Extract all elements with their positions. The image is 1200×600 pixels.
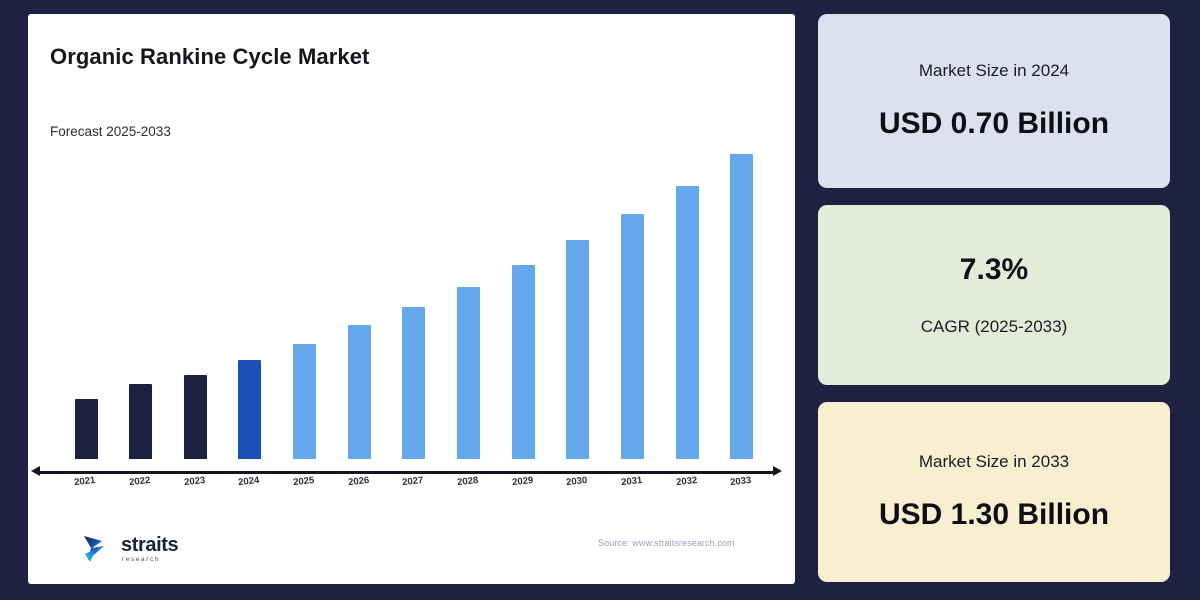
- bar: [730, 154, 753, 459]
- x-axis-tick: 2026: [337, 476, 381, 502]
- bar-column: [501, 154, 545, 459]
- bar: [512, 265, 535, 459]
- bar-column: [337, 154, 381, 459]
- x-axis-tick: 2033: [720, 476, 764, 502]
- x-axis-arrow-left-icon: [31, 466, 40, 476]
- chart-panel: Organic Rankine Cycle Market Forecast 20…: [28, 14, 795, 584]
- chart-subtitle: Forecast 2025-2033: [50, 124, 171, 139]
- x-axis-line: [36, 471, 776, 474]
- bar: [566, 240, 589, 459]
- bar-column: [119, 154, 163, 459]
- source-attribution: Source: www.straitsresearch.com: [598, 538, 735, 548]
- bar-series: [64, 154, 764, 459]
- stat-card-label: Market Size in 2024: [919, 61, 1069, 81]
- x-axis-tick: 2029: [501, 476, 545, 502]
- bar-column: [283, 154, 327, 459]
- x-axis-tick-label: 2031: [621, 475, 645, 503]
- bar-column: [447, 154, 491, 459]
- stat-card-market-size-2033: Market Size in 2033 USD 1.30 Billion: [818, 402, 1170, 582]
- stat-card-value: USD 1.30 Billion: [879, 498, 1109, 532]
- x-axis-tick-labels: 2021202220232024202520262027202820292030…: [64, 476, 764, 502]
- x-axis-tick-label: 2023: [183, 475, 207, 503]
- logo-text: straits research: [121, 535, 178, 564]
- infographic-root: Organic Rankine Cycle Market Forecast 20…: [0, 0, 1200, 600]
- bar: [184, 375, 207, 459]
- x-axis-tick-label: 2024: [238, 475, 262, 503]
- bar-column: [173, 154, 217, 459]
- x-axis-tick-label: 2028: [457, 475, 481, 503]
- x-axis-tick-label: 2032: [675, 475, 699, 503]
- x-axis-tick: 2031: [611, 476, 655, 502]
- stat-card-label: CAGR (2025-2033): [921, 317, 1067, 337]
- x-axis-tick: 2021: [64, 476, 108, 502]
- x-axis-tick: 2022: [119, 476, 163, 502]
- stat-card-label: Market Size in 2033: [919, 452, 1069, 472]
- logo-subtext: research: [122, 557, 178, 564]
- stat-card-value: USD 0.70 Billion: [879, 107, 1109, 141]
- bar-column: [665, 154, 709, 459]
- bar-chart-plot-area: [64, 154, 764, 459]
- bar: [129, 384, 152, 459]
- bar: [293, 344, 316, 459]
- x-axis-arrow-right-icon: [773, 466, 782, 476]
- stat-card-value: 7.3%: [960, 253, 1028, 287]
- x-axis-tick-label: 2026: [347, 475, 371, 503]
- bar-column: [228, 154, 272, 459]
- bar-column: [556, 154, 600, 459]
- x-axis-tick: 2027: [392, 476, 436, 502]
- bar: [75, 399, 98, 459]
- bar-column: [720, 154, 764, 459]
- x-axis-tick: 2028: [447, 476, 491, 502]
- stat-card-cagr: 7.3% CAGR (2025-2033): [818, 205, 1170, 385]
- bar: [402, 307, 425, 460]
- page-title: Organic Rankine Cycle Market: [50, 44, 369, 70]
- stat-card-market-size-2024: Market Size in 2024 USD 0.70 Billion: [818, 14, 1170, 188]
- bar-column: [392, 154, 436, 459]
- x-axis-tick: 2030: [556, 476, 600, 502]
- x-axis-tick-label: 2027: [402, 475, 426, 503]
- bar: [676, 186, 699, 459]
- bar: [238, 360, 261, 459]
- bar-column: [611, 154, 655, 459]
- bar: [348, 325, 371, 459]
- bar: [621, 214, 644, 459]
- x-axis-tick: 2032: [665, 476, 709, 502]
- x-axis-tick-label: 2022: [129, 475, 153, 503]
- x-axis-tick-label: 2029: [511, 475, 535, 503]
- brand-logo: straits research: [82, 524, 232, 574]
- logo-wordmark: straits: [121, 535, 178, 555]
- x-axis-tick-label: 2025: [293, 475, 317, 503]
- x-axis-tick: 2023: [173, 476, 217, 502]
- x-axis-tick-label: 2030: [566, 475, 590, 503]
- bar: [457, 287, 480, 459]
- bar-column: [64, 154, 108, 459]
- x-axis-tick: 2025: [283, 476, 327, 502]
- x-axis-tick-label: 2021: [74, 475, 98, 503]
- arrow-logo-icon: [82, 532, 116, 566]
- x-axis-tick: 2024: [228, 476, 272, 502]
- x-axis-tick-label: 2033: [730, 475, 754, 503]
